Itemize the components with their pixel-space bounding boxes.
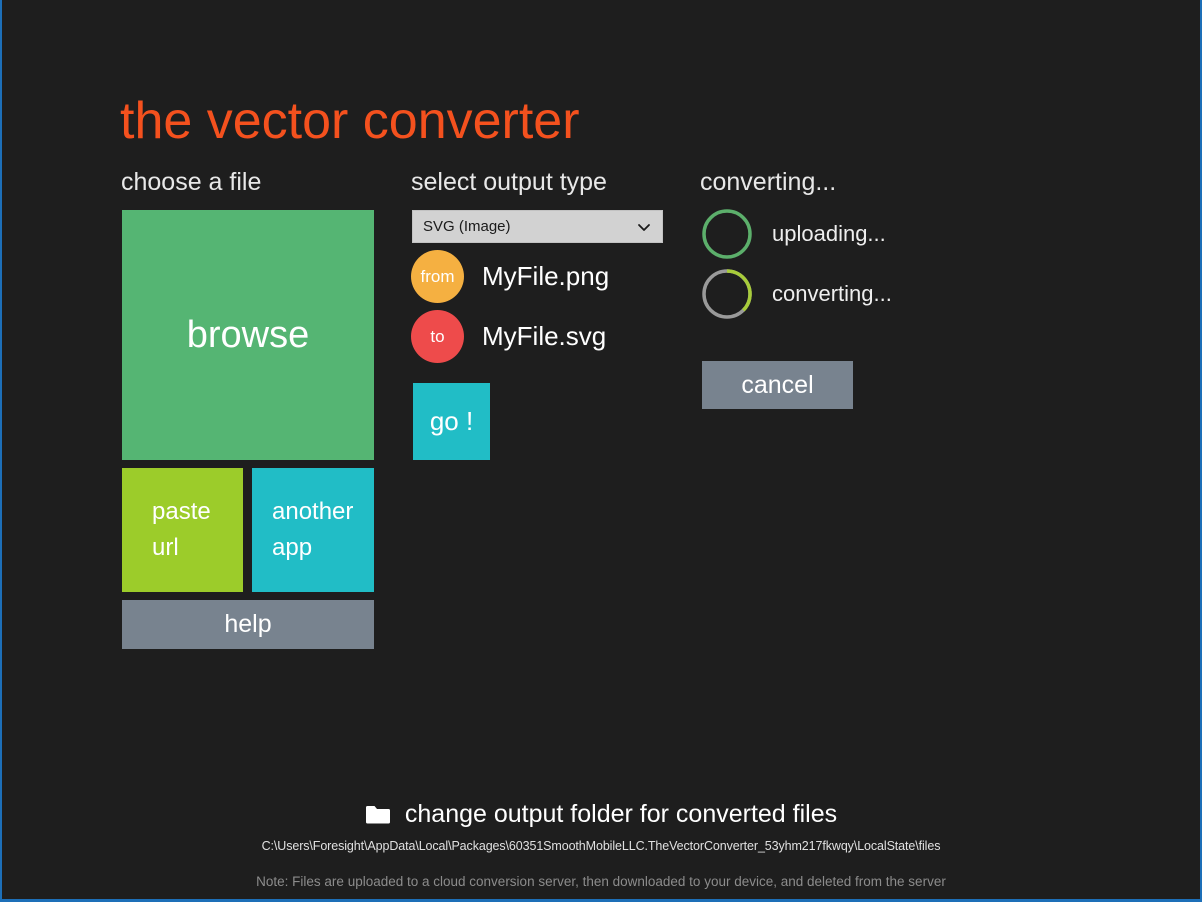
- change-output-folder-button[interactable]: change output folder for converted files: [365, 800, 837, 829]
- output-type-select[interactable]: SVG (Image): [412, 210, 663, 243]
- go-button[interactable]: go !: [413, 383, 490, 460]
- cancel-button-label: cancel: [741, 371, 813, 400]
- source-file-chip: from MyFile.png: [411, 250, 609, 303]
- output-type-value: SVG (Image): [423, 218, 636, 235]
- heading-select-output-type: select output type: [411, 167, 607, 197]
- paste-url-tile-label: paste url: [152, 494, 211, 566]
- progress-step-uploading: uploading...: [700, 207, 886, 261]
- footer: change output folder for converted files…: [2, 800, 1200, 889]
- page-title: the vector converter: [120, 90, 580, 152]
- target-file-chip: to MyFile.svg: [411, 310, 606, 363]
- privacy-note: Note: Files are uploaded to a cloud conv…: [256, 874, 946, 889]
- from-badge: from: [411, 250, 464, 303]
- heading-converting: converting...: [700, 167, 836, 197]
- paste-url-tile[interactable]: paste url: [122, 468, 243, 592]
- go-button-label: go !: [430, 406, 473, 437]
- help-tile[interactable]: help: [122, 600, 374, 649]
- help-tile-label: help: [224, 610, 271, 639]
- converting-spinner-icon: [700, 267, 754, 321]
- uploading-spinner-icon: [700, 207, 754, 261]
- browse-tile[interactable]: browse: [122, 210, 374, 460]
- target-file-name: MyFile.svg: [482, 321, 606, 352]
- uploading-label: uploading...: [772, 221, 886, 247]
- folder-icon: [365, 804, 391, 825]
- output-folder-path: C:\Users\Foresight\AppData\Local\Package…: [262, 839, 941, 853]
- cancel-button[interactable]: cancel: [702, 361, 853, 409]
- app-window: the vector converter choose a file selec…: [2, 0, 1200, 899]
- converting-label: converting...: [772, 281, 892, 307]
- another-app-tile-label: another app: [272, 494, 353, 566]
- change-output-folder-label: change output folder for converted files: [405, 800, 837, 829]
- another-app-tile[interactable]: another app: [252, 468, 374, 592]
- source-file-name: MyFile.png: [482, 261, 609, 292]
- browse-tile-label: browse: [187, 314, 310, 357]
- to-badge: to: [411, 310, 464, 363]
- chevron-down-icon: [636, 219, 652, 235]
- progress-step-converting: converting...: [700, 267, 892, 321]
- heading-choose-a-file: choose a file: [121, 167, 261, 197]
